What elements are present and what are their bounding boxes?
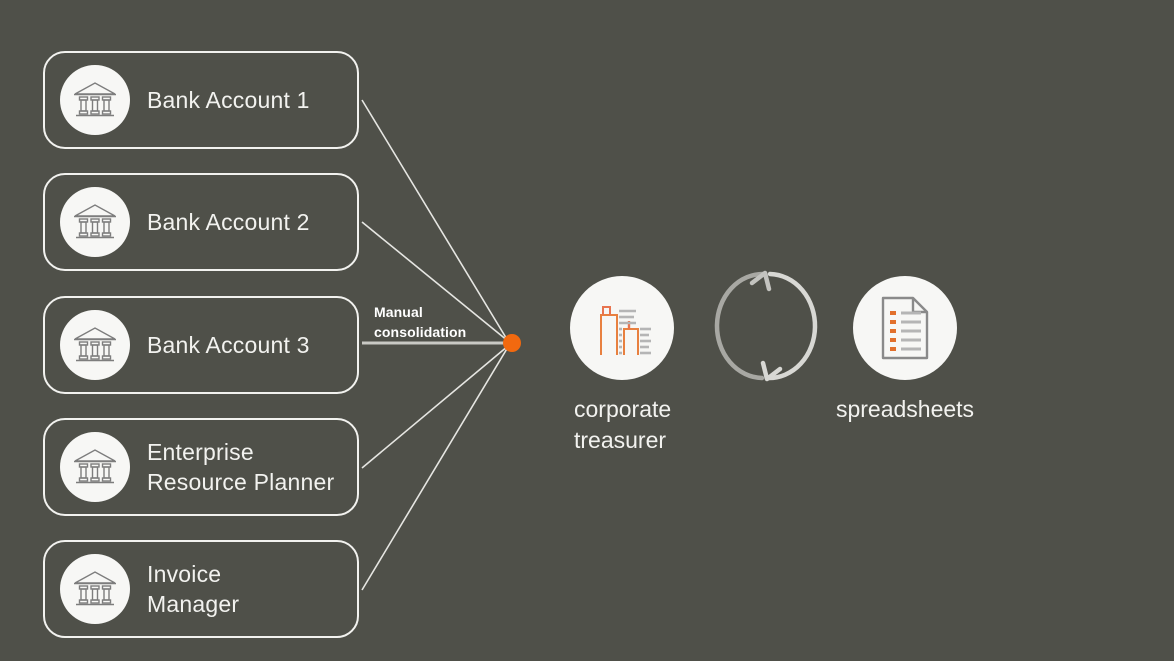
bank-building-icon — [60, 65, 130, 135]
source-box-bank-account-3[interactable]: Bank Account 3 — [43, 296, 359, 394]
node-corporate-treasurer[interactable]: corporate treasurer — [540, 276, 704, 456]
source-box-bank-account-2[interactable]: Bank Account 2 — [43, 173, 359, 271]
source-box-enterprise-resource-planner[interactable]: Enterprise Resource Planner — [43, 418, 359, 516]
source-label: Enterprise Resource Planner — [147, 437, 334, 497]
bank-building-icon — [60, 554, 130, 624]
bank-building-icon — [60, 310, 130, 380]
source-label: Bank Account 3 — [147, 330, 310, 360]
bank-building-icon — [60, 432, 130, 502]
source-label: Bank Account 1 — [147, 85, 310, 115]
node-label: spreadsheets — [812, 394, 998, 425]
source-box-invoice-manager[interactable]: Invoice Manager — [43, 540, 359, 638]
bank-building-icon — [60, 187, 130, 257]
city-buildings-chart-icon — [570, 276, 674, 380]
source-label: Bank Account 2 — [147, 207, 310, 237]
circular-sync-arrows-icon — [712, 266, 820, 386]
node-spreadsheets[interactable]: spreadsheets — [812, 276, 998, 425]
connector-enterprise-resource-planner — [362, 346, 508, 468]
node-label: corporate treasurer — [540, 394, 704, 456]
junction-dot[interactable] — [503, 334, 521, 352]
manual-consolidation-label: Manual consolidation — [374, 302, 466, 342]
document-list-icon — [853, 276, 957, 380]
source-label: Invoice Manager — [147, 559, 239, 619]
diagram-canvas: Bank Account 1 — [0, 0, 1174, 661]
connector-invoice-manager — [362, 347, 508, 590]
source-box-bank-account-1[interactable]: Bank Account 1 — [43, 51, 359, 149]
